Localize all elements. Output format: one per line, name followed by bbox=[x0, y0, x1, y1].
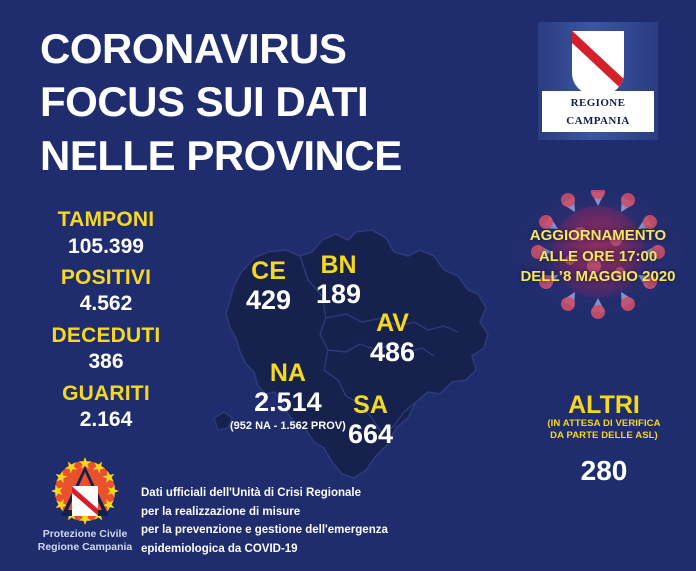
province-label-sa: SA 664 bbox=[348, 392, 393, 451]
stat-value-guariti: 2.164 bbox=[22, 405, 190, 435]
stat-value-positivi: 4.562 bbox=[22, 289, 190, 319]
province-code-bn: BN bbox=[316, 252, 361, 279]
footer-line-1: Dati ufficiali dell'Unità di Crisi Regio… bbox=[141, 484, 471, 503]
protezione-civile-emblem-icon bbox=[45, 456, 125, 530]
province-label-bn: BN 189 bbox=[316, 252, 361, 311]
coronavirus-campania-infographic: CORONAVIRUS FOCUS SUI DATI NELLE PROVINC… bbox=[0, 0, 696, 571]
footer-line-3: per la prevenzione e gestione dell'emerg… bbox=[141, 521, 471, 540]
stat-label-guariti: GUARITI bbox=[22, 382, 190, 406]
province-code-na: NA bbox=[230, 360, 346, 387]
update-line-3: DELL’8 MAGGIO 2020 bbox=[508, 267, 688, 288]
altri-title: ALTRI bbox=[518, 392, 690, 418]
protezione-civile-logo: Protezione Civile Regione Campania bbox=[36, 456, 134, 556]
page-title: CORONAVIRUS FOCUS SUI DATI NELLE PROVINC… bbox=[40, 22, 500, 182]
province-value-av: 486 bbox=[370, 337, 415, 369]
province-label-ce: CE 429 bbox=[246, 258, 291, 317]
stat-label-tamponi: TAMPONI bbox=[22, 208, 190, 232]
province-label-av: AV 486 bbox=[370, 310, 415, 369]
pc-caption-line-2: Regione Campania bbox=[36, 541, 134, 554]
province-value-bn: 189 bbox=[316, 279, 361, 311]
province-label-na: NA 2.514 (952 NA - 1.562 PROV) bbox=[230, 360, 346, 433]
title-line-2: FOCUS SUI DATI bbox=[40, 75, 500, 128]
regione-campania-logo: REGIONE CAMPANIA bbox=[538, 22, 658, 140]
footer-disclaimer: Dati ufficiali dell'Unità di Crisi Regio… bbox=[141, 484, 471, 559]
stat-value-deceduti: 386 bbox=[22, 347, 190, 377]
title-line-3: NELLE PROVINCE bbox=[40, 129, 500, 182]
stat-label-deceduti: DECEDUTI bbox=[22, 324, 190, 348]
province-code-av: AV bbox=[370, 310, 415, 337]
protezione-civile-caption: Protezione Civile Regione Campania bbox=[36, 528, 134, 554]
pc-caption-line-1: Protezione Civile bbox=[36, 528, 134, 541]
stat-label-positivi: POSITIVI bbox=[22, 266, 190, 290]
province-value-na: 2.514 bbox=[230, 387, 346, 419]
update-text-block: AGGIORNAMENTO ALLE ORE 17:00 DELL’8 MAGG… bbox=[508, 226, 688, 288]
altri-note-line-2: DA PARTE DELLE ASL) bbox=[518, 430, 690, 442]
footer-line-4: epidemiologica da COVID-19 bbox=[141, 540, 471, 559]
footer-line-2: per la realizzazione di misure bbox=[141, 503, 471, 522]
update-line-1: AGGIORNAMENTO bbox=[508, 226, 688, 247]
regione-campania-banner-text: REGIONE CAMPANIA bbox=[566, 97, 630, 127]
altri-value: 280 bbox=[518, 455, 690, 487]
province-value-sa: 664 bbox=[348, 419, 393, 451]
province-detail-na: (952 NA - 1.562 PROV) bbox=[230, 419, 346, 433]
title-line-1: CORONAVIRUS bbox=[40, 22, 500, 75]
province-code-sa: SA bbox=[348, 392, 393, 419]
province-code-ce: CE bbox=[246, 258, 291, 285]
update-timestamp-panel: AGGIORNAMENTO ALLE ORE 17:00 DELL’8 MAGG… bbox=[508, 190, 688, 320]
update-line-2: ALLE ORE 17:00 bbox=[508, 247, 688, 268]
summary-stats-panel: TAMPONI 105.399 POSITIVI 4.562 DECEDUTI … bbox=[22, 208, 190, 440]
regione-campania-banner: REGIONE CAMPANIA bbox=[542, 91, 654, 132]
province-value-ce: 429 bbox=[246, 285, 291, 317]
altri-panel: ALTRI (IN ATTESA DI VERIFICA DA PARTE DE… bbox=[518, 392, 690, 487]
altri-note-line-1: (IN ATTESA DI VERIFICA bbox=[518, 418, 690, 430]
stat-value-tamponi: 105.399 bbox=[22, 232, 190, 262]
